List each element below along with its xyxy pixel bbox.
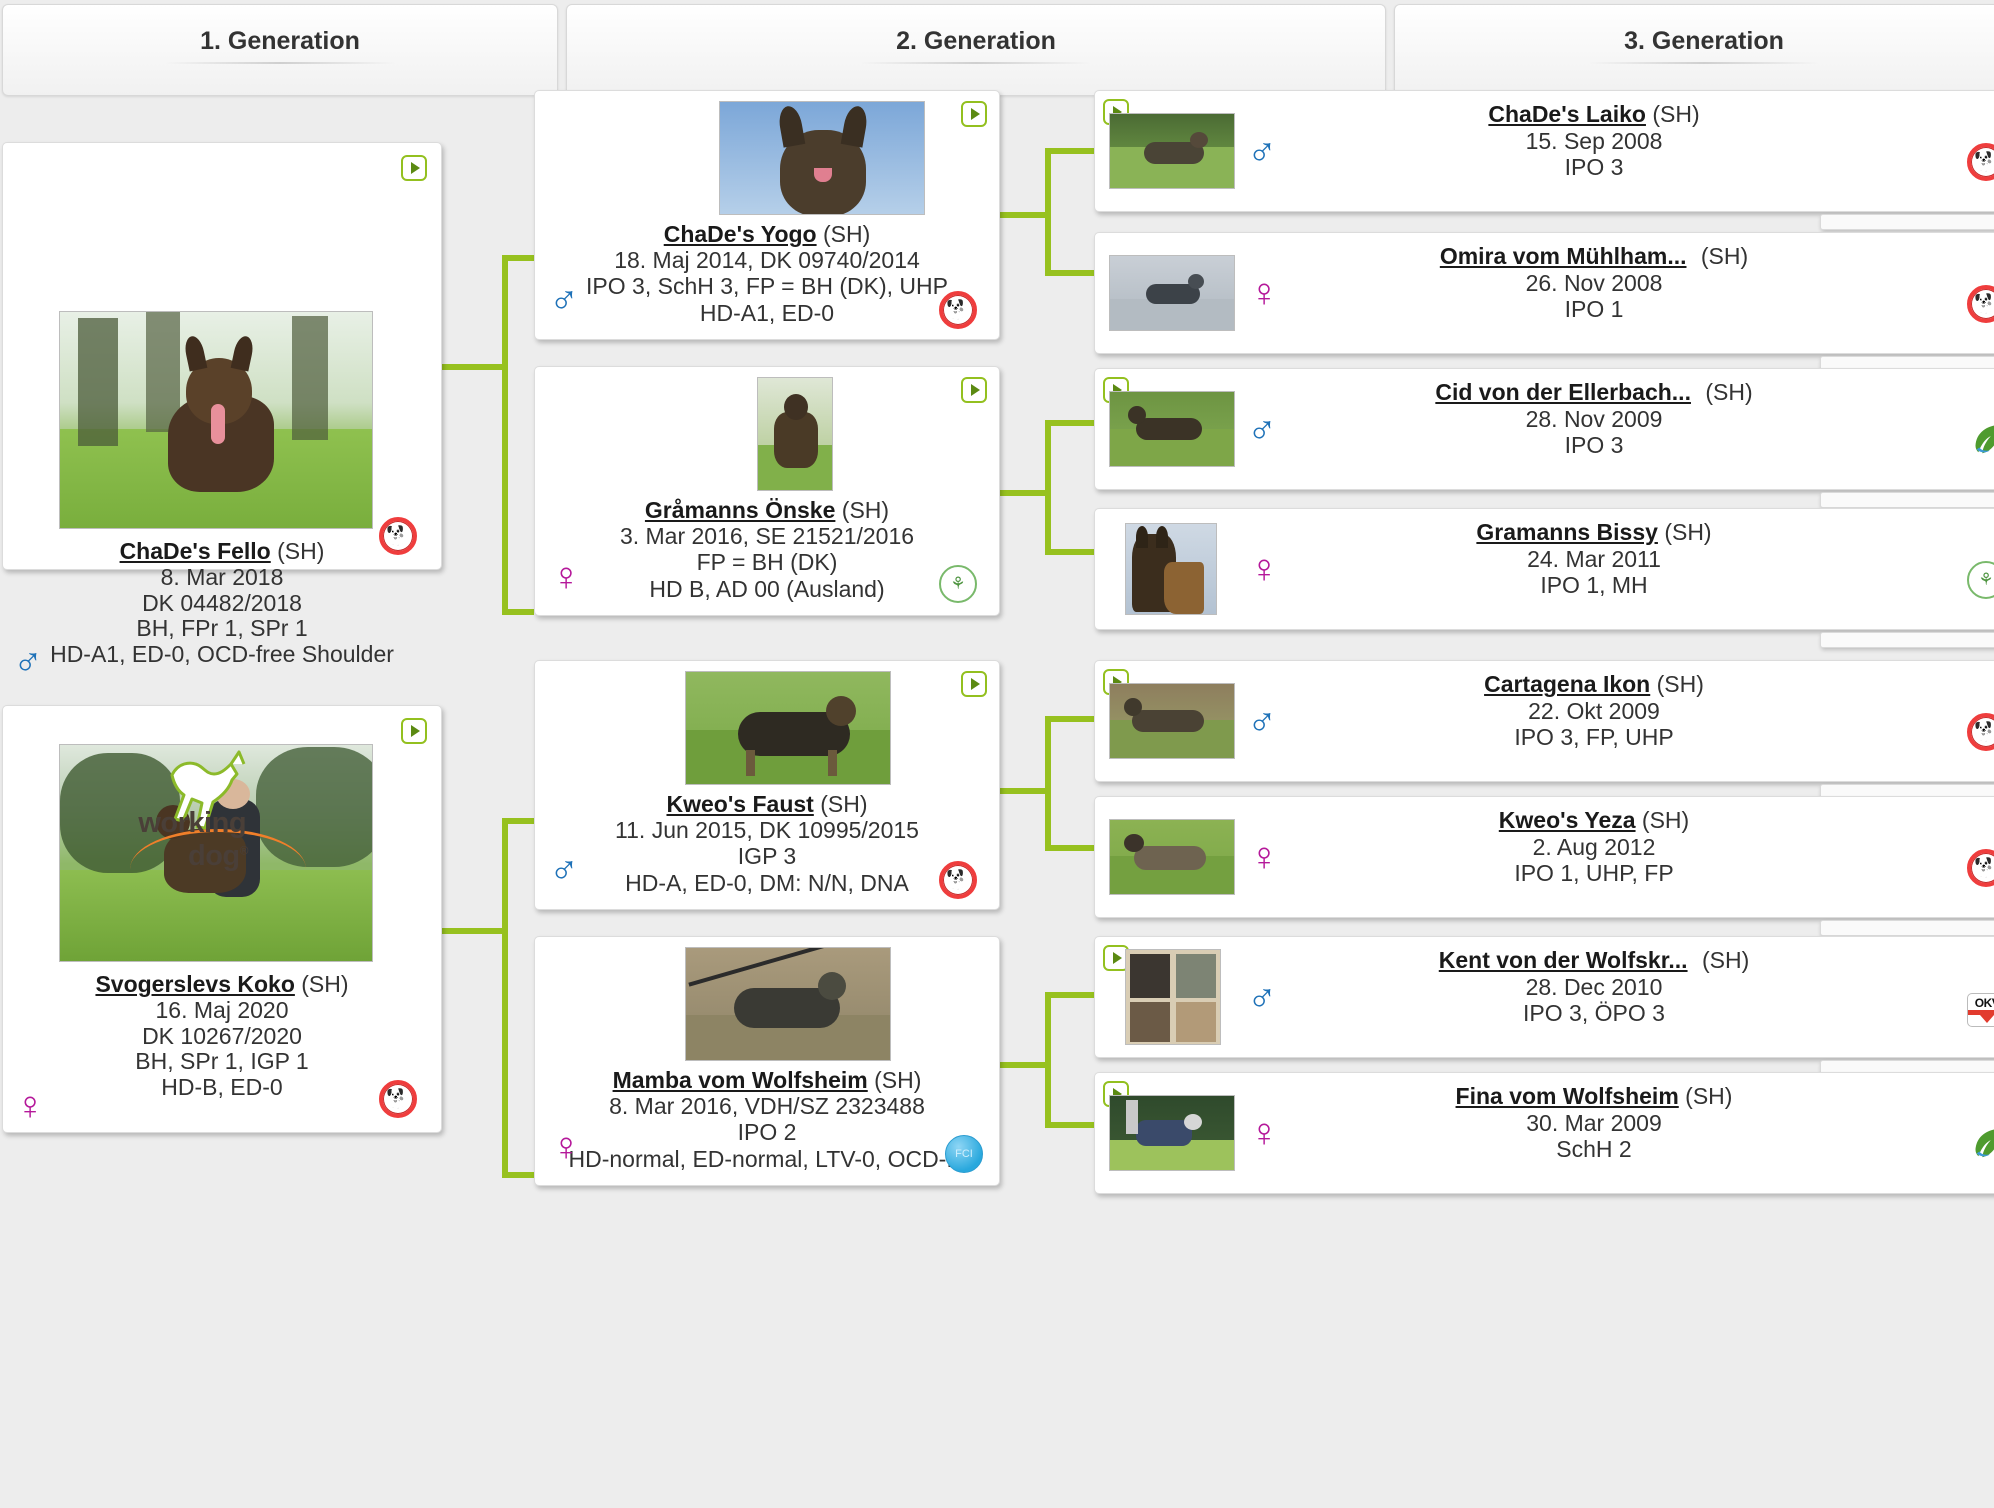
- dog-line-2: DK 10267/2020: [3, 1024, 441, 1050]
- dog-line-2: IPO 3: [1265, 154, 1923, 181]
- dog-line-1: 24. Mar 2011: [1265, 546, 1923, 573]
- dog-name-line: Mamba vom Wolfsheim (SH): [535, 1067, 999, 1093]
- connector: [999, 212, 1051, 218]
- okv-badge-icon: OKV: [1967, 993, 1994, 1027]
- dog-name-line: Kweo's Faust (SH): [535, 791, 999, 817]
- pedigree-card-gen1-0[interactable]: ChaDe's Fello (SH) 8. Mar 2018 DK 04482/…: [2, 142, 442, 570]
- pedigree-chart: 1. Generation 2. Generation 3. Generatio…: [0, 0, 1994, 1508]
- connector: [502, 255, 508, 615]
- pedigree-card-gen3-4[interactable]: ♂ Cartagena Ikon (SH) 22. Okt 2009 IPO 3…: [1094, 660, 1994, 782]
- dog-line-1: 28. Dec 2010: [1265, 974, 1923, 1001]
- dog-name[interactable]: Cartagena Ikon: [1484, 671, 1650, 697]
- dog-name[interactable]: ChaDe's Yogo: [664, 221, 817, 247]
- connector: [1045, 270, 1095, 276]
- watermark-text: working dog®: [118, 807, 318, 873]
- dog-line-1: 16. Maj 2020: [3, 998, 441, 1024]
- watermark-word-1: working: [138, 807, 246, 839]
- dog-title: (SH): [301, 971, 348, 997]
- dog-name[interactable]: Svogerslevs Koko: [95, 971, 294, 997]
- generation-header-1-label: 1. Generation: [200, 5, 360, 56]
- card-edge-peek: [1820, 632, 1994, 648]
- dog-line-1: 11. Jun 2015, DK 10995/2015: [535, 817, 999, 843]
- dog-name[interactable]: Mamba vom Wolfsheim: [613, 1067, 868, 1093]
- card-edge-peek: [1820, 920, 1994, 936]
- connector: [1045, 420, 1095, 426]
- male-gender-icon: ♂: [549, 849, 579, 889]
- dog-name[interactable]: Fina vom Wolfsheim: [1456, 1083, 1679, 1109]
- dog-name-line: ChaDe's Yogo (SH): [535, 221, 999, 247]
- no-dog-badge-icon: [1967, 285, 1994, 323]
- connector: [1045, 992, 1095, 998]
- play-icon[interactable]: [961, 101, 987, 127]
- fci-badge-icon: FCI: [945, 1135, 983, 1173]
- dog-name[interactable]: Omira vom Mühlham...: [1440, 243, 1687, 269]
- dog-photo: [685, 947, 891, 1061]
- connector: [999, 788, 1051, 794]
- dog-photo: [1109, 113, 1235, 189]
- male-gender-icon: ♂: [549, 279, 579, 319]
- dog-line-3: BH, SPr 1, IGP 1: [3, 1049, 441, 1075]
- connector: [1045, 148, 1051, 276]
- pedigree-card-gen3-1[interactable]: ♀ Omira vom Mühlham... (SH) 26. Nov 2008…: [1094, 232, 1994, 354]
- pedigree-card-gen2-2[interactable]: Kweo's Faust (SH) 11. Jun 2015, DK 10995…: [534, 660, 1000, 910]
- registered-mark: ®: [240, 843, 248, 857]
- dog-line-1: 22. Okt 2009: [1265, 698, 1923, 725]
- connector: [1045, 549, 1095, 555]
- dog-title: (SH): [842, 497, 889, 523]
- generation-header-3: 3. Generation: [1394, 4, 1994, 96]
- female-gender-icon: ♀: [15, 1086, 45, 1126]
- dog-name[interactable]: Kent von der Wolfskr...: [1439, 947, 1688, 973]
- dog-line-2: DK 04482/2018: [3, 591, 441, 617]
- generation-header-3-label: 3. Generation: [1624, 5, 1784, 56]
- connector: [440, 928, 508, 934]
- pedigree-card-gen3-6[interactable]: ♂ Kent von der Wolfskr... (SH) 28. Dec 2…: [1094, 936, 1994, 1058]
- dog-line-2: IPO 3: [1265, 432, 1923, 459]
- dog-title: (SH): [1701, 243, 1748, 269]
- female-gender-icon: ♀: [551, 1127, 581, 1167]
- pedigree-card-gen2-3[interactable]: Mamba vom Wolfsheim (SH) 8. Mar 2016, VD…: [534, 936, 1000, 1186]
- connector: [1045, 716, 1051, 851]
- dog-title: (SH): [823, 221, 870, 247]
- dog-line-2: IGP 3: [535, 843, 999, 869]
- dog-name[interactable]: ChaDe's Laiko: [1488, 101, 1646, 127]
- watermark-word-2: dog: [188, 840, 240, 872]
- dog-line-1: 8. Mar 2016, VDH/SZ 2323488: [535, 1093, 999, 1119]
- dog-line-3: HD-A1, ED-0: [535, 300, 999, 326]
- dog-name[interactable]: Cid von der Ellerbach...: [1435, 379, 1691, 405]
- dog-photo: [719, 101, 925, 215]
- dog-title: (SH): [820, 791, 867, 817]
- dog-line-1: 8. Mar 2018: [3, 565, 441, 591]
- dog-photo: [1109, 1095, 1235, 1171]
- dog-name-line: Cid von der Ellerbach... (SH): [1265, 379, 1923, 406]
- connector: [1045, 716, 1095, 722]
- pedigree-card-gen2-1[interactable]: Gråmanns Önske (SH) 3. Mar 2016, SE 2152…: [534, 366, 1000, 616]
- dog-line-4: HD-A1, ED-0, OCD-free Shoulder: [3, 642, 441, 668]
- dog-title: (SH): [1702, 947, 1749, 973]
- dog-title: (SH): [277, 538, 324, 564]
- dog-line-2: IPO 1, MH: [1265, 572, 1923, 599]
- dog-name-line: Kent von der Wolfskr... (SH): [1265, 947, 1923, 974]
- connector: [502, 1172, 534, 1178]
- dog-line-2: IPO 1, UHP, FP: [1265, 860, 1923, 887]
- connector: [502, 609, 534, 615]
- no-dog-badge-icon: [1967, 143, 1994, 181]
- dog-line-2: IPO 3, SchH 3, FP = BH (DK), UHP: [535, 273, 999, 299]
- play-icon[interactable]: [961, 671, 987, 697]
- dog-name-line: Kweo's Yeza (SH): [1265, 807, 1923, 834]
- male-gender-icon: ♂: [13, 641, 43, 681]
- generation-header-2-label: 2. Generation: [896, 5, 1056, 56]
- dog-line-2: IPO 1: [1265, 296, 1923, 323]
- play-icon[interactable]: [401, 718, 427, 744]
- dog-line-1: 3. Mar 2016, SE 21521/2016: [535, 523, 999, 549]
- dog-title: (SH): [1657, 671, 1704, 697]
- dog-name-line: Gramanns Bissy (SH): [1265, 519, 1923, 546]
- pedigree-card-gen2-0[interactable]: ChaDe's Yogo (SH) 18. Maj 2014, DK 09740…: [534, 90, 1000, 340]
- connector: [1045, 1122, 1095, 1128]
- dog-photo: [1109, 819, 1235, 895]
- card-edge-peek: [1820, 214, 1994, 230]
- female-gender-icon: ♀: [551, 557, 581, 597]
- connector: [999, 490, 1051, 496]
- dog-line-1: 30. Mar 2009: [1265, 1110, 1923, 1137]
- dog-photo: [1125, 949, 1221, 1045]
- connector: [999, 1062, 1051, 1068]
- no-dog-badge-icon: [379, 517, 417, 555]
- no-dog-badge-icon: [939, 291, 977, 329]
- generation-header-1: 1. Generation: [2, 4, 558, 96]
- dog-line-2: IPO 3, FP, UHP: [1265, 724, 1923, 751]
- dog-photo: [1125, 523, 1217, 615]
- dog-name-line: Cartagena Ikon (SH): [1265, 671, 1923, 698]
- working-dog-watermark: working dog®: [118, 745, 318, 875]
- dog-line-3: HD B, AD 00 (Ausland): [535, 576, 999, 602]
- dog-line-2: FP = BH (DK): [535, 549, 999, 575]
- no-dog-badge-icon: [1967, 713, 1994, 751]
- dog-photo: [1109, 255, 1235, 331]
- connector: [440, 364, 508, 370]
- play-icon[interactable]: [401, 155, 427, 181]
- dog-name[interactable]: Gråmanns Önske: [645, 497, 835, 523]
- generation-header-2: 2. Generation: [566, 4, 1386, 96]
- dog-photo: [1109, 391, 1235, 467]
- dog-line-2: IPO 3, ÖPO 3: [1265, 1000, 1923, 1027]
- connector: [1045, 992, 1051, 1128]
- dog-line-1: 26. Nov 2008: [1265, 270, 1923, 297]
- dog-photo: [685, 671, 891, 785]
- pedigree-card-gen3-3[interactable]: ♀ Gramanns Bissy (SH) 24. Mar 2011 IPO 1…: [1094, 508, 1994, 630]
- green-seal-badge-icon: ⚘: [939, 565, 977, 603]
- dog-line-3: HD-normal, ED-normal, LTV-0, OCD-...: [535, 1146, 999, 1172]
- dog-name-line: Gråmanns Önske (SH): [535, 497, 999, 523]
- dog-line-1: 15. Sep 2008: [1265, 128, 1923, 155]
- pedigree-card-gen3-5[interactable]: ♀ Kweo's Yeza (SH) 2. Aug 2012 IPO 1, UH…: [1094, 796, 1994, 918]
- no-dog-badge-icon: [1967, 849, 1994, 887]
- dog-name-line: Fina vom Wolfsheim (SH): [1265, 1083, 1923, 1110]
- no-dog-badge-icon: [939, 861, 977, 899]
- dog-name[interactable]: Kweo's Yeza: [1499, 807, 1636, 833]
- dog-name-line: Svogerslevs Koko (SH): [3, 972, 441, 998]
- dog-title: (SH): [1705, 379, 1752, 405]
- dog-title: (SH): [874, 1067, 921, 1093]
- dog-title: (SH): [1664, 519, 1711, 545]
- dog-photo: [59, 311, 373, 529]
- pedigree-card-gen3-2[interactable]: ♂ Cid von der Ellerbach... (SH) 28. Nov …: [1094, 368, 1994, 490]
- card-edge-peek: [1820, 492, 1994, 508]
- connector: [1045, 148, 1095, 154]
- dog-line-2: IPO 2: [535, 1119, 999, 1145]
- dog-line-2: SchH 2: [1265, 1136, 1923, 1163]
- connector: [1045, 845, 1095, 851]
- connector: [502, 255, 534, 261]
- dog-title: (SH): [1652, 101, 1699, 127]
- dog-photo: [1109, 683, 1235, 759]
- pedigree-card-gen3-0[interactable]: ♂ ChaDe's Laiko (SH) 15. Sep 2008 IPO 3: [1094, 90, 1994, 212]
- dog-title: (SH): [1642, 807, 1689, 833]
- green-seal-badge-icon: ⚘: [1967, 561, 1994, 599]
- dog-name[interactable]: Gramanns Bissy: [1476, 519, 1658, 545]
- dog-photo: [757, 377, 833, 491]
- pedigree-card-gen3-7[interactable]: ♀ Fina vom Wolfsheim (SH) 30. Mar 2009 S…: [1094, 1072, 1994, 1194]
- dog-line-1: 2. Aug 2012: [1265, 834, 1923, 861]
- dog-line-3: HD-A, ED-0, DM: N/N, DNA: [535, 870, 999, 896]
- connector: [502, 818, 534, 824]
- dog-line-1: 18. Maj 2014, DK 09740/2014: [535, 247, 999, 273]
- dog-title: (SH): [1685, 1083, 1732, 1109]
- leaf-badge-icon: [1969, 419, 1994, 457]
- dog-line-4: HD-B, ED-0: [3, 1075, 441, 1101]
- connector: [502, 818, 508, 1178]
- dog-name-line: ChaDe's Fello (SH): [3, 539, 441, 565]
- dog-name-line: Omira vom Mühlham... (SH): [1265, 243, 1923, 270]
- dog-name[interactable]: ChaDe's Fello: [120, 538, 271, 564]
- connector: [1045, 420, 1051, 555]
- leaf-badge-icon: [1969, 1123, 1994, 1161]
- dog-name-line: ChaDe's Laiko (SH): [1265, 101, 1923, 128]
- dog-line-1: 28. Nov 2009: [1265, 406, 1923, 433]
- dog-line-3: BH, FPr 1, SPr 1: [3, 616, 441, 642]
- dog-name[interactable]: Kweo's Faust: [666, 791, 813, 817]
- no-dog-badge-icon: [379, 1080, 417, 1118]
- play-icon[interactable]: [961, 377, 987, 403]
